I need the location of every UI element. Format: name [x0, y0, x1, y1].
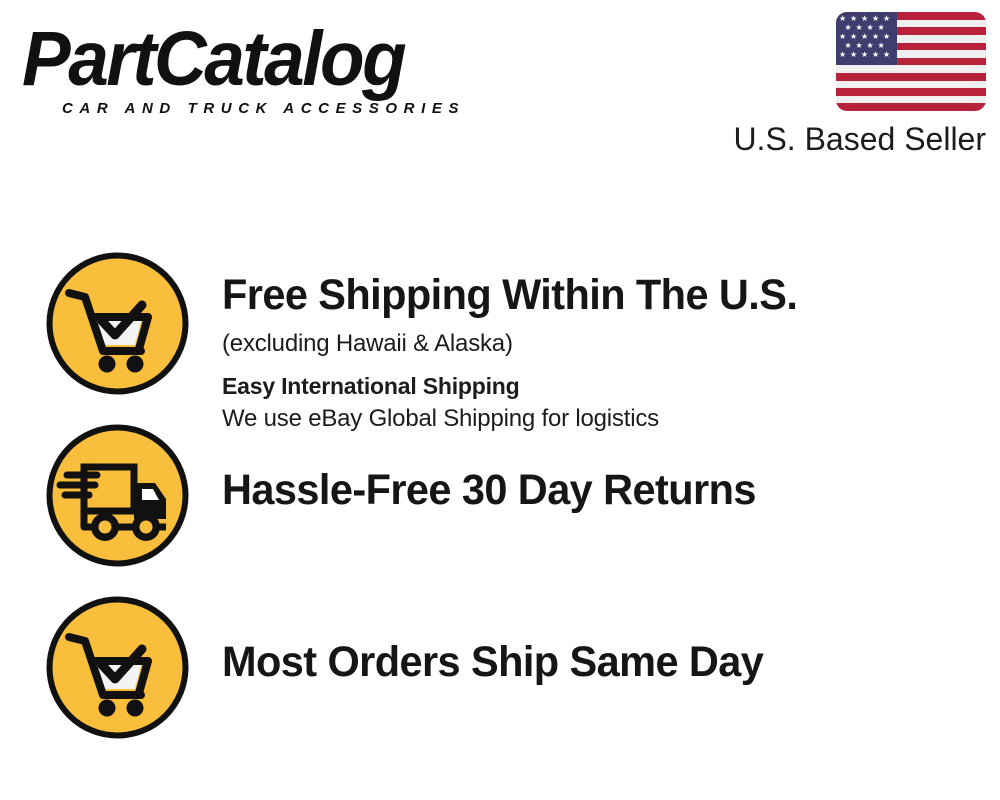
flag-star [839, 15, 846, 22]
flag-star [856, 42, 863, 49]
flag-star [867, 42, 874, 49]
brand-tagline: CAR AND TRUCK ACCESSORIES [62, 100, 465, 117]
flag-stripe [836, 88, 986, 96]
flag-stripe [836, 81, 986, 89]
flag-canton [836, 12, 897, 65]
flag-star [845, 42, 852, 49]
flag-star [872, 33, 879, 40]
page-header: PartCatalog CAR AND TRUCK ACCESSORIES [0, 0, 1000, 175]
flag-star [861, 33, 868, 40]
delivery-truck-icon [45, 423, 190, 568]
benefit-heading: Hassle-Free 30 Day Returns [222, 465, 898, 515]
flag-star [839, 51, 846, 58]
shopping-cart-check-icon [45, 251, 190, 396]
brand-wordmark: PartCatalog [22, 18, 492, 101]
flag-star [883, 33, 890, 40]
flag-stripe [836, 103, 986, 111]
benefit-note: (excluding Hawaii & Alaska) [222, 328, 922, 359]
benefit-heading: Free Shipping Within The U.S. [222, 270, 898, 320]
benefit-heading: Most Orders Ship Same Day [222, 637, 898, 687]
benefit-text-returns: Hassle-Free 30 Day Returns [222, 465, 922, 515]
flag-star [861, 15, 868, 22]
seller-label: U.S. Based Seller [733, 120, 986, 158]
benefits-list: Free Shipping Within The U.S. (excluding… [0, 175, 1000, 800]
flag-stripe [836, 73, 986, 81]
flag-star [878, 42, 885, 49]
flag-star [883, 51, 890, 58]
flag-star [850, 51, 857, 58]
flag-star [839, 33, 846, 40]
flag-star [883, 15, 890, 22]
flag-star [850, 33, 857, 40]
benefit-text-same-day: Most Orders Ship Same Day [222, 637, 922, 687]
flag-star [872, 15, 879, 22]
flag-stripe [836, 65, 986, 73]
benefit-row-same-day: Most Orders Ship Same Day [0, 564, 1000, 729]
flag-star [845, 24, 852, 31]
flag-star [856, 24, 863, 31]
us-based-seller-badge: U.S. Based Seller [716, 10, 986, 160]
flag-star [872, 51, 879, 58]
flag-star [878, 24, 885, 31]
benefit-row-returns: Hassle-Free 30 Day Returns [0, 392, 1000, 557]
benefit-row-free-shipping: Free Shipping Within The U.S. (excluding… [0, 220, 1000, 410]
shopping-cart-check-icon [45, 595, 190, 740]
us-flag-icon [836, 12, 986, 111]
flag-stripe [836, 96, 986, 104]
brand-logo[interactable]: PartCatalog CAR AND TRUCK ACCESSORIES [22, 18, 492, 118]
flag-star [861, 51, 868, 58]
flag-star [867, 24, 874, 31]
flag-star [850, 15, 857, 22]
